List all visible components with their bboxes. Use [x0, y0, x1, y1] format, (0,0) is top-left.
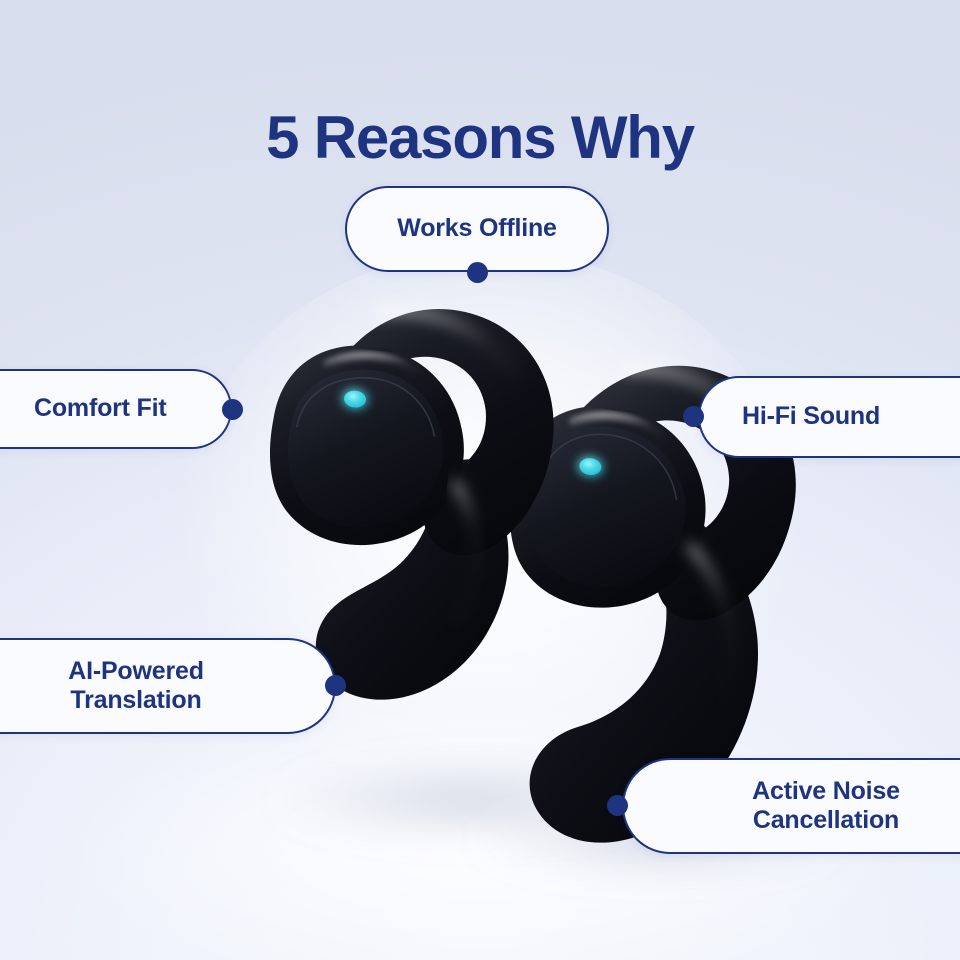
callout-works-offline[interactable]: Works Offline: [345, 186, 609, 272]
callout-active-noise-cancellation[interactable]: Active Noise Cancellation: [622, 758, 960, 854]
connector-dot-active-noise-cancellation: [607, 795, 628, 816]
callout-ai-powered-translation[interactable]: AI-Powered Translation: [0, 638, 336, 734]
connector-dot-works-offline: [467, 262, 488, 283]
infographic-canvas: 5 Reasons Why Works Offline Comfort Fit …: [0, 0, 960, 960]
callout-hi-fi-sound[interactable]: Hi-Fi Sound: [698, 376, 960, 458]
callout-label-works-offline: Works Offline: [347, 214, 607, 244]
callout-comfort-fit[interactable]: Comfort Fit: [0, 369, 232, 449]
callout-label-comfort-fit: Comfort Fit: [34, 394, 230, 424]
page-title: 5 Reasons Why: [0, 106, 960, 169]
connector-dot-ai-powered-translation: [325, 675, 346, 696]
connector-dot-hi-fi-sound: [683, 406, 704, 427]
callout-label-hi-fi-sound: Hi-Fi Sound: [742, 402, 960, 432]
callout-label-active-noise-cancellation: Active Noise Cancellation: [672, 777, 960, 836]
connector-dot-comfort-fit: [222, 399, 243, 420]
callout-label-ai-powered-translation: AI-Powered Translation: [4, 657, 268, 716]
